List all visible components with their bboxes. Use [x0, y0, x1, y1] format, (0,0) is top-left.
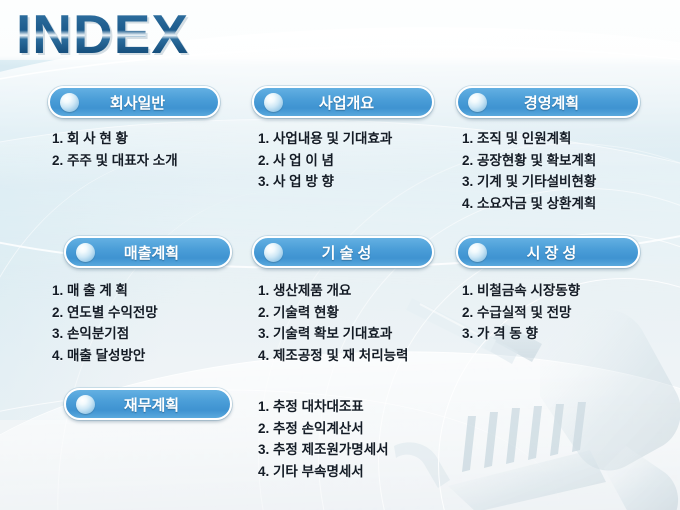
list-item: 1. 매 출 계 획: [52, 280, 158, 302]
section-list-management-plan: 1. 조직 및 인원계획 2. 공장현황 및 확보계획 3. 기계 및 기타설비…: [462, 128, 596, 214]
section-button-technology[interactable]: 기 술 성: [252, 236, 434, 268]
section-button-label: 회사일반: [79, 92, 218, 113]
list-item: 4. 제조공정 및 재 처리능력: [258, 345, 408, 367]
list-item: 3. 손익분기점: [52, 323, 158, 345]
list-item: 1. 회 사 현 황: [52, 128, 178, 150]
list-item: 4. 소요자금 및 상환계획: [462, 193, 596, 215]
section-list-sales-plan: 1. 매 출 계 획 2. 연도별 수익전망 3. 손익분기점 4. 매출 달성…: [52, 280, 158, 366]
list-item: 2. 연도별 수익전망: [52, 302, 158, 324]
sphere-bullet-icon: [76, 243, 95, 262]
section-button-label: 경영계획: [487, 92, 638, 113]
section-list-technology: 1. 생산제품 개요 2. 기술력 현황 3. 기술력 확보 기대효과 4. 제…: [258, 280, 408, 366]
section-button-label: 매출계획: [95, 242, 230, 263]
sphere-bullet-icon: [468, 243, 487, 262]
list-item: 2. 추정 손익계산서: [258, 418, 389, 440]
section-list-business-overview: 1. 사업내용 및 기대효과 2. 사 업 이 념 3. 사 업 방 향: [258, 128, 392, 193]
list-item: 2. 수급실적 및 전망: [462, 302, 580, 324]
section-button-sales-plan[interactable]: 매출계획: [64, 236, 232, 268]
list-item: 2. 기술력 현황: [258, 302, 408, 324]
section-button-label: 기 술 성: [283, 242, 432, 263]
list-item: 3. 사 업 방 향: [258, 171, 392, 193]
list-item: 2. 사 업 이 념: [258, 150, 392, 172]
list-item: 4. 매출 달성방안: [52, 345, 158, 367]
list-item: 4. 기타 부속명세서: [258, 461, 389, 483]
sphere-bullet-icon: [264, 93, 283, 112]
list-item: 2. 주주 및 대표자 소개: [52, 150, 178, 172]
section-button-management-plan[interactable]: 경영계획: [456, 86, 640, 118]
section-button-label: 사업개요: [283, 92, 432, 113]
list-item: 3. 가 격 동 향: [462, 323, 580, 345]
sphere-bullet-icon: [468, 93, 487, 112]
list-item: 2. 공장현황 및 확보계획: [462, 150, 596, 172]
list-item: 3. 기술력 확보 기대효과: [258, 323, 408, 345]
sphere-bullet-icon: [264, 243, 283, 262]
list-item: 1. 사업내용 및 기대효과: [258, 128, 392, 150]
sphere-bullet-icon: [60, 93, 79, 112]
section-list-financial-plan: 1. 추정 대차대조표 2. 추정 손익계산서 3. 추정 제조원가명세서 4.…: [258, 396, 389, 482]
list-item: 1. 비철금속 시장동향: [462, 280, 580, 302]
section-list-marketability: 1. 비철금속 시장동향 2. 수급실적 및 전망 3. 가 격 동 향: [462, 280, 580, 345]
list-item: 1. 조직 및 인원계획: [462, 128, 596, 150]
section-button-company-general[interactable]: 회사일반: [48, 86, 220, 118]
slide-canvas: INDEX INDEX 회사일반 1. 회 사 현 황 2. 주주 및 대표자 …: [0, 0, 680, 510]
list-item: 1. 추정 대차대조표: [258, 396, 389, 418]
page-title: INDEX: [16, 2, 189, 66]
section-button-financial-plan[interactable]: 재무계획: [64, 388, 232, 420]
section-list-company-general: 1. 회 사 현 황 2. 주주 및 대표자 소개: [52, 128, 178, 171]
section-button-label: 재무계획: [95, 394, 230, 415]
sphere-bullet-icon: [76, 395, 95, 414]
list-item: 3. 추정 제조원가명세서: [258, 439, 389, 461]
section-button-label: 시 장 성: [487, 242, 638, 263]
list-item: 1. 생산제품 개요: [258, 280, 408, 302]
section-button-marketability[interactable]: 시 장 성: [456, 236, 640, 268]
section-button-business-overview[interactable]: 사업개요: [252, 86, 434, 118]
list-item: 3. 기계 및 기타설비현황: [462, 171, 596, 193]
